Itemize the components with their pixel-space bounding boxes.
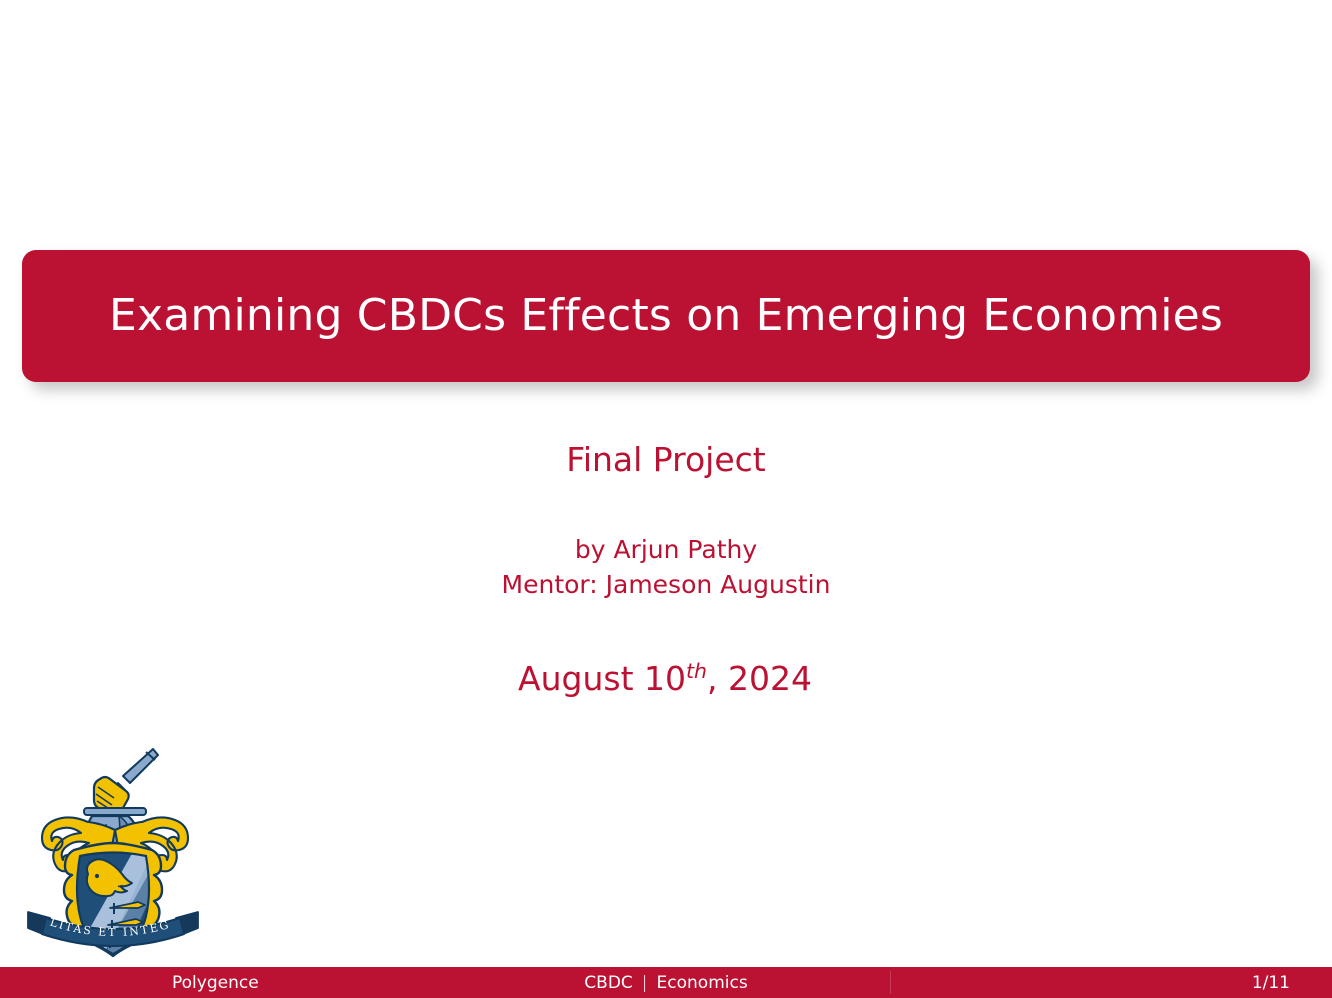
crest-fist-icon <box>94 777 129 812</box>
footer-subject[interactable]: CBDC | Economics <box>0 967 1332 998</box>
author-name: by Arjun Pathy <box>0 532 1332 568</box>
slide-subtitle: Final Project <box>0 440 1332 480</box>
footer-bar: Polygence CBDC | Economics 1/11 <box>0 967 1332 998</box>
date-ordinal-suffix: th <box>686 659 707 683</box>
author-block: by Arjun Pathy Mentor: Jameson Augustin <box>0 532 1332 603</box>
mentor-name: Mentor: Jameson Augustin <box>0 567 1332 603</box>
slide-date: August 10th, 2024 <box>0 659 1332 698</box>
page-number-label: 1/11 <box>1252 973 1290 993</box>
date-year: , 2024 <box>707 659 812 698</box>
page-title: Examining CBDCs Effects on Emerging Econ… <box>81 292 1251 340</box>
footer-subject-primary: CBDC <box>584 973 633 993</box>
institution-logo: FIDELITAS ET INTEGRITAS <box>22 746 204 958</box>
footer-subject-secondary: Economics <box>657 973 748 993</box>
footer-separator: | <box>642 973 648 993</box>
title-banner: Examining CBDCs Effects on Emerging Econ… <box>22 250 1310 382</box>
title-block: Final Project by Arjun Pathy Mentor: Jam… <box>0 440 1332 698</box>
footer-page-number[interactable]: 1/11 <box>1252 967 1290 998</box>
date-prefix: August 10 <box>518 659 686 698</box>
